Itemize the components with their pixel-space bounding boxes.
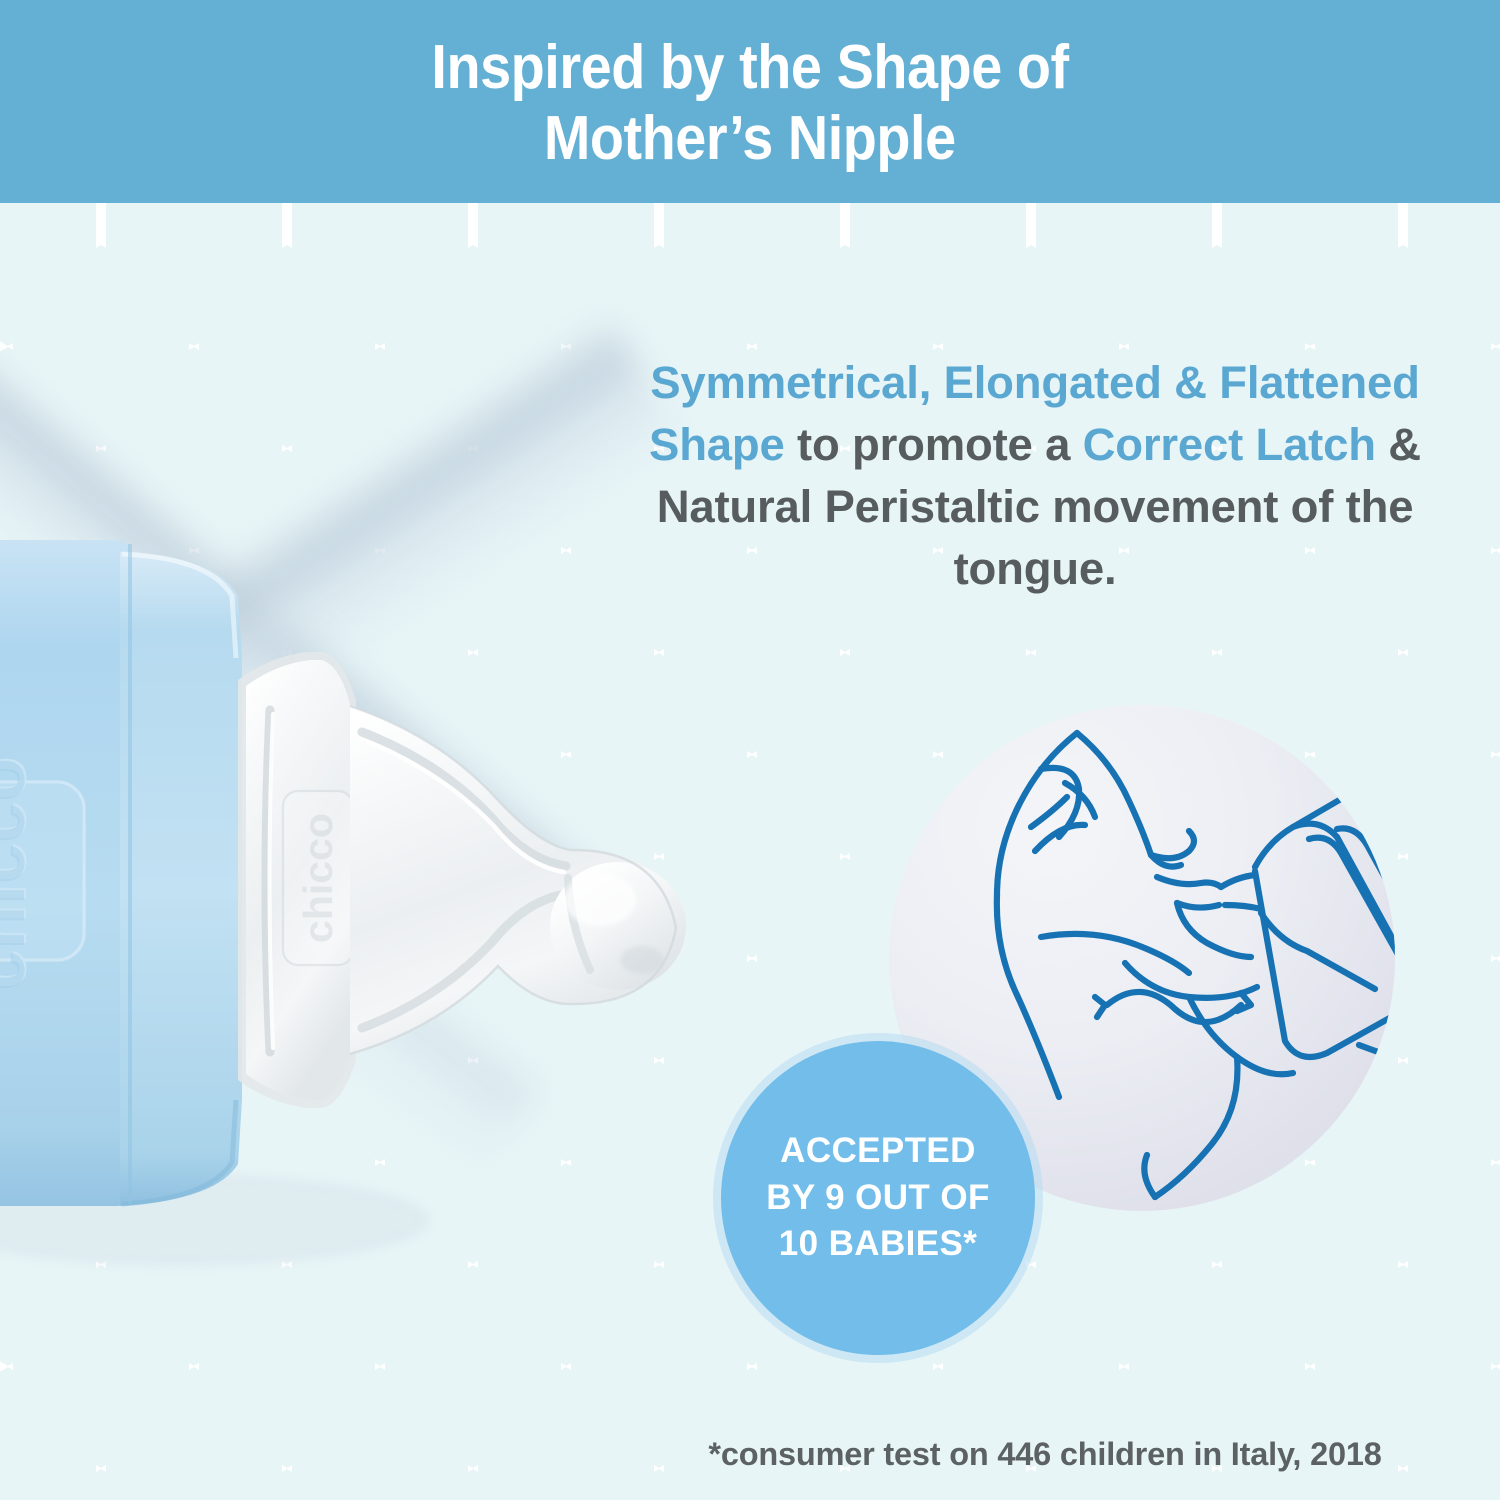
badge-line-2: BY 9 OUT OF bbox=[766, 1175, 990, 1222]
svg-text:chicco: chicco bbox=[295, 813, 341, 943]
copy-plain-1: to promote a bbox=[785, 419, 1083, 470]
copy-accent-2: Correct Latch bbox=[1083, 419, 1376, 470]
badge-line-3: 10 BABIES* bbox=[779, 1221, 978, 1268]
footnote-disclaimer: *consumer test on 446 children in Italy,… bbox=[640, 1436, 1450, 1473]
header-banner: Inspired by the Shape of Mother’s Nipple bbox=[0, 0, 1500, 203]
promo-canvas: chicco chicco chicco bbox=[0, 0, 1500, 1500]
bottle-collar bbox=[120, 552, 242, 1206]
nipple-chicco-emboss: chicco bbox=[282, 790, 354, 966]
chicco-logo-emboss: chicco chicco bbox=[0, 755, 86, 991]
accepted-badge: ACCEPTED BY 9 OUT OF 10 BABIES* bbox=[713, 1033, 1043, 1363]
bottle-product-photo: chicco chicco chicco bbox=[0, 500, 730, 1290]
header-title-line-2: Mother’s Nipple bbox=[544, 104, 956, 174]
badge-disc: ACCEPTED BY 9 OUT OF 10 BABIES* bbox=[721, 1041, 1035, 1355]
badge-line-1: ACCEPTED bbox=[780, 1128, 976, 1175]
feature-description: Symmetrical, Elongated & Flattened Shape… bbox=[640, 352, 1430, 600]
svg-text:chicco: chicco bbox=[0, 757, 40, 991]
header-title-line-1: Inspired by the Shape of bbox=[431, 33, 1068, 103]
